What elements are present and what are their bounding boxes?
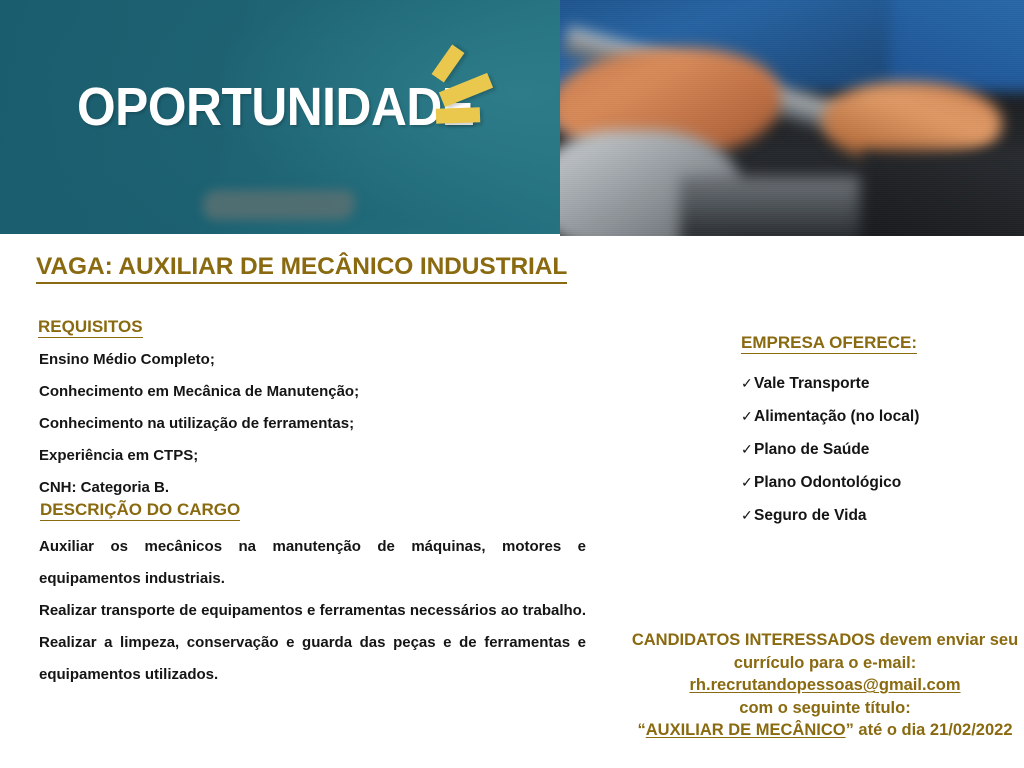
header-banner: OPORTUNIDADE [0, 0, 1024, 236]
banner-title: OPORTUNIDADE [77, 80, 474, 134]
check-icon: ✓ [741, 400, 754, 433]
burst-ray-icon [436, 107, 480, 124]
list-item-label: Plano Odontológico [754, 474, 901, 491]
check-icon: ✓ [741, 367, 754, 400]
list-item: Conhecimento na utilização de ferramenta… [39, 408, 559, 440]
check-icon: ✓ [741, 499, 754, 532]
list-item-label: Seguro de Vida [754, 507, 867, 524]
requisitos-list: Ensino Médio Completo; Conhecimento em M… [39, 344, 559, 504]
list-item-label: Plano de Saúde [754, 441, 869, 458]
list-item: ✓Plano Odontológico [741, 466, 1011, 499]
beneficios-list: ✓Vale Transporte ✓Alimentação (no local)… [741, 367, 1011, 532]
redacted-logo-area [203, 190, 355, 220]
section-heading-oferece: EMPRESA OFERECE: [741, 333, 917, 354]
descricao-body: Auxiliar os mecânicos na manutenção de m… [39, 531, 586, 691]
contact-line-5: “AUXILIAR DE MECÂNICO” até o dia 21/02/2… [630, 719, 1020, 742]
list-item-label: Vale Transporte [754, 375, 869, 392]
email-subject: AUXILIAR DE MECÂNICO [646, 721, 846, 739]
section-heading-requisitos: REQUISITOS [38, 317, 143, 338]
list-item: Ensino Médio Completo; [39, 344, 559, 376]
deadline-text: ” até o dia 21/02/2022 [846, 721, 1013, 739]
check-icon: ✓ [741, 433, 754, 466]
contact-line-1: CANDIDATOS INTERESSADOS devem enviar seu [630, 629, 1020, 652]
paragraph: Auxiliar os mecânicos na manutenção de m… [39, 531, 586, 595]
photo-grain-overlay [560, 0, 1024, 236]
quote-open: “ [637, 721, 645, 739]
paragraph: Realizar transporte de equipamentos e fe… [39, 595, 586, 691]
list-item: Conhecimento em Mecânica de Manutenção; [39, 376, 559, 408]
list-item: Experiência em CTPS; [39, 440, 559, 472]
section-heading-descricao: DESCRIÇÃO DO CARGO [40, 500, 240, 521]
job-posting-poster: OPORTUNIDADE VAGA: AUXILIAR DE MECÂNICO … [0, 0, 1024, 768]
contact-block: CANDIDATOS INTERESSADOS devem enviar seu… [630, 629, 1020, 742]
mechanic-photo [560, 0, 1024, 236]
contact-line-4: com o seguinte título: [630, 697, 1020, 720]
contact-line-2: currículo para o e-mail: [630, 652, 1020, 675]
list-item: ✓Seguro de Vida [741, 499, 1011, 532]
list-item: ✓Plano de Saúde [741, 433, 1011, 466]
list-item: ✓Vale Transporte [741, 367, 1011, 400]
list-item-label: Alimentação (no local) [754, 408, 919, 425]
list-item: ✓Alimentação (no local) [741, 400, 1011, 433]
contact-email[interactable]: rh.recrutandopessoas@gmail.com [630, 674, 1020, 697]
check-icon: ✓ [741, 466, 754, 499]
header-teal-panel: OPORTUNIDADE [0, 0, 562, 234]
page-title: VAGA: AUXILIAR DE MECÂNICO INDUSTRIAL [36, 253, 567, 284]
